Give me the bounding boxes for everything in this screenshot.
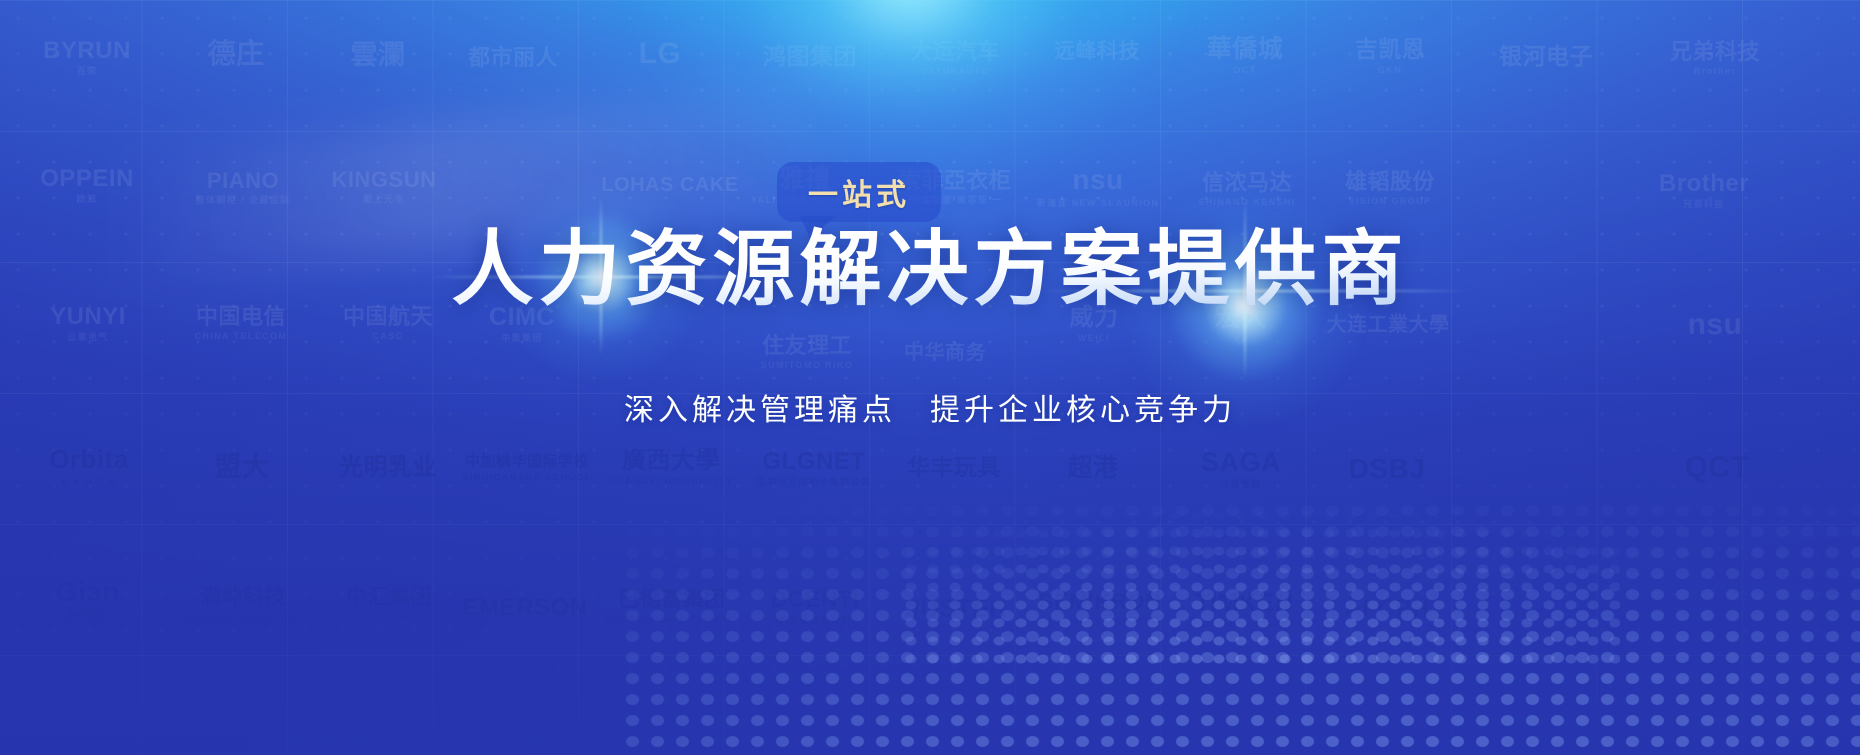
banner-hero: BYRUN百荣德庄雲瀾都市丽人LG鸿图集团大运汽车DAYUNAUTO远峰科技華僑… [0,0,1860,755]
page-subtitle: 深入解决管理痛点 提升企业核心竞争力 [624,385,1236,429]
badge-container: 一站式 [777,162,941,222]
one-stop-badge: 一站式 [777,162,941,222]
hero-content: 一站式 人力资源解决方案提供商 深入解决管理痛点 提升企业核心竞争力 [0,0,1860,755]
page-title: 人力资源解决方案提供商 [451,226,1408,315]
